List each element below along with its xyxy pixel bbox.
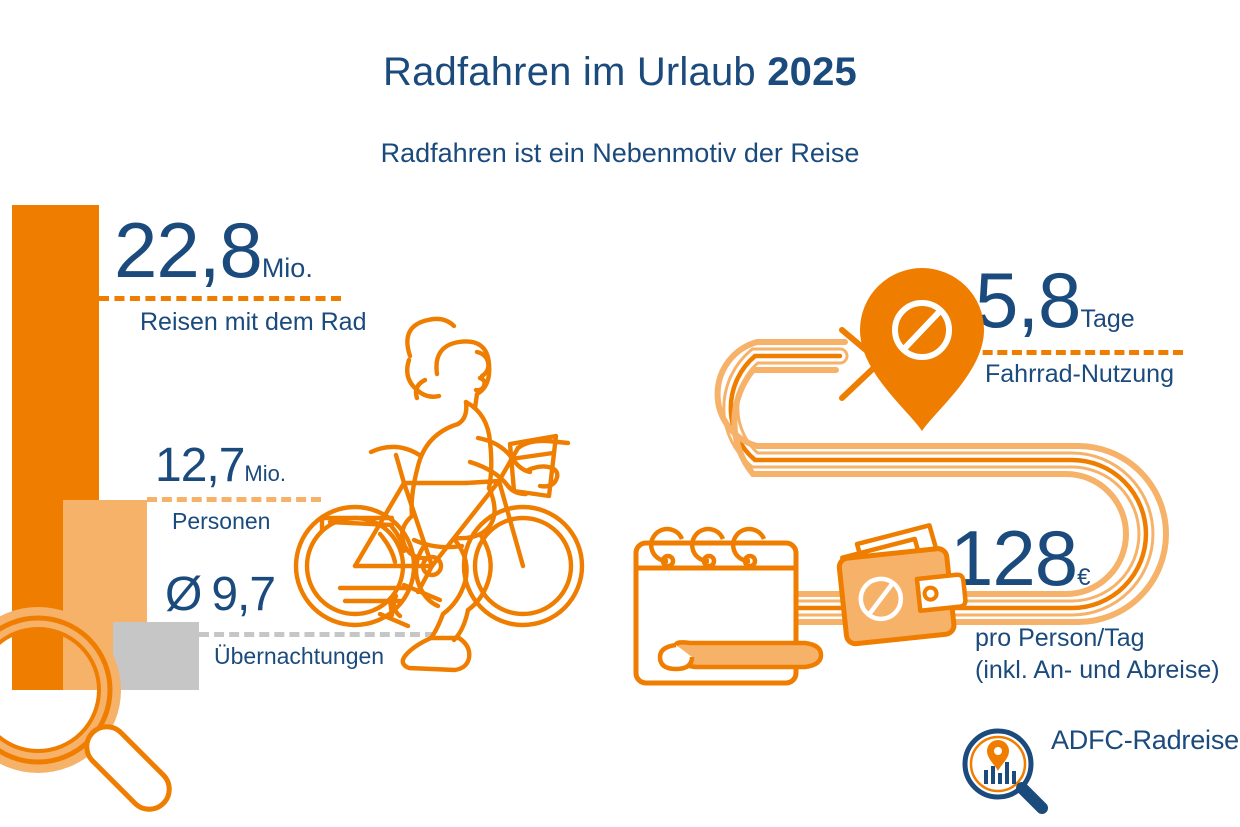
stat-personen-unit: Mio.	[244, 461, 286, 486]
stat-preis-value-group: 128€	[950, 523, 1091, 595]
cyclist-icon	[296, 319, 582, 670]
stat-tage-label: Fahrrad-Nutzung	[985, 360, 1174, 389]
stat-preis-label-line1: pro Person/Tag	[975, 622, 1220, 654]
stat-tage-value: 5,8	[975, 256, 1080, 344]
adfc-logo[interactable]: ADFC-Radreiseanalyse	[955, 725, 1240, 756]
stat-reisen-unit: Mio.	[262, 253, 313, 283]
title-main-text: Radfahren im Urlaub	[383, 50, 767, 94]
page-subtitle: Radfahren ist ein Nebenmotiv der Reise	[0, 138, 1240, 169]
illustration-layer	[0, 0, 1240, 827]
stat-preis-value: 128	[950, 514, 1077, 602]
logo-text: ADFC-Radreiseanalyse	[1051, 725, 1240, 756]
stat-preis-label-line2: (inkl. An- und Abreise)	[975, 654, 1220, 686]
average-diameter-icon	[859, 577, 903, 621]
map-pin-icon	[860, 268, 984, 431]
dashed-line-uebernachtungen	[199, 632, 435, 637]
page-title: Radfahren im Urlaub 2025	[0, 50, 1240, 95]
stat-reisen-label: Reisen mit dem Rad	[140, 308, 366, 337]
stat-reisen-value: 22,8	[114, 206, 262, 294]
average-diameter-icon: Ø	[165, 568, 201, 621]
dashed-line-reisen	[99, 296, 341, 301]
calendar-value: 1	[684, 573, 709, 625]
infographic-canvas: Radfahren im Urlaub 2025 Radfahren ist e…	[0, 0, 1240, 827]
stat-tage-value-group: 5,8Tage	[975, 265, 1135, 337]
arrow-right-icon	[842, 330, 880, 398]
stat-uebernachtungen-value-group: Ø9,7	[165, 573, 275, 617]
calendar-value-group: 1Tag	[684, 578, 746, 621]
bar-uebernachtungen	[113, 622, 199, 690]
stat-reisen-value-group: 22,8Mio.	[114, 215, 313, 287]
stat-uebernachtungen-label: Übernachtungen	[214, 643, 384, 670]
stat-personen-label: Personen	[172, 508, 270, 535]
stat-personen-value: 12,7	[155, 439, 244, 492]
wallet-icon	[836, 522, 969, 644]
dashed-line-personen	[147, 497, 321, 502]
stat-uebernachtungen-value: 9,7	[201, 568, 275, 621]
stat-preis-label: pro Person/Tag (inkl. An- und Abreise)	[975, 622, 1220, 686]
dashed-line-tage	[968, 350, 1183, 355]
average-diameter-icon	[895, 303, 949, 357]
calendar-unit: Tag	[709, 594, 746, 620]
stat-preis-unit: €	[1077, 564, 1090, 591]
stat-tage-unit: Tage	[1080, 305, 1134, 333]
title-year-text: 2025	[767, 50, 857, 94]
stat-personen-value-group: 12,7Mio.	[155, 444, 286, 488]
